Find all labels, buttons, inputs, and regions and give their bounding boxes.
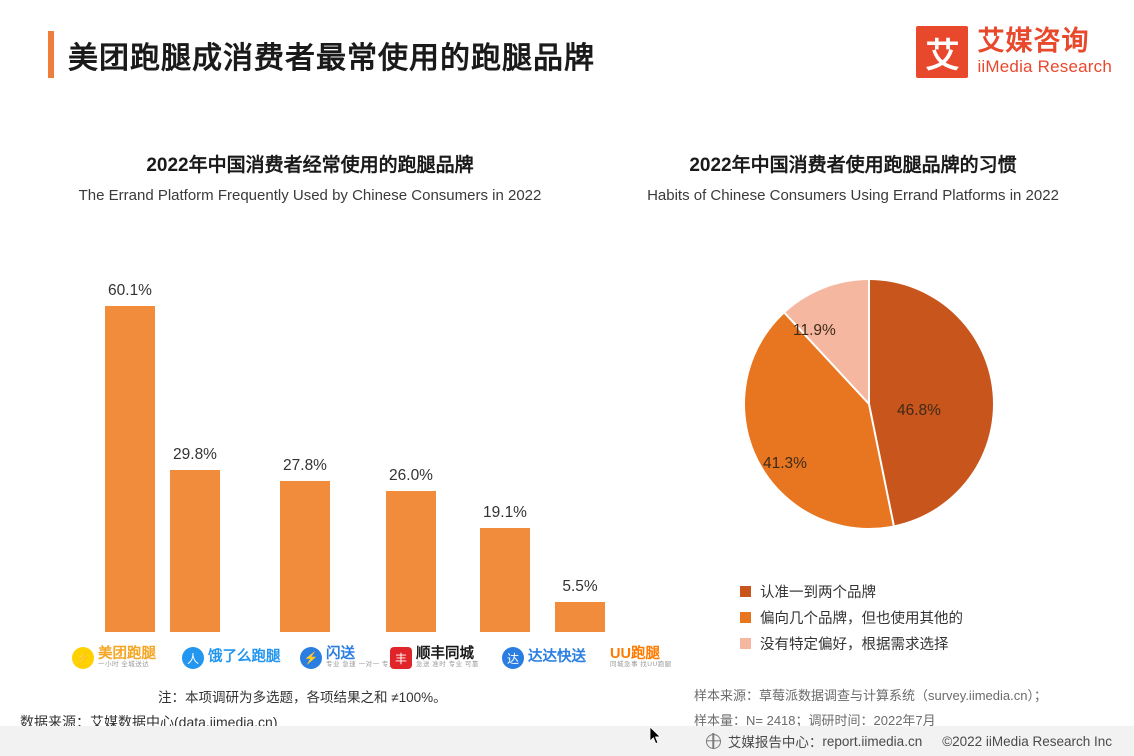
logo-name-en: iiMedia Research	[977, 56, 1112, 77]
page-footer: 艾媒报告中心： report.iimedia.cn ©2022 iiMedia …	[0, 726, 1134, 756]
brand-tagline: 同城急事 找UU跑腿	[610, 662, 672, 669]
bar-column: 19.1%	[480, 280, 530, 632]
sample-source: 样本来源：草莓派数据调查与计算系统（survey.iimedia.cn）；	[694, 684, 1047, 709]
pie-legend: 认准一到两个品牌偏向几个品牌，但也使用其他的没有特定偏好，根据需求选择	[740, 578, 963, 656]
title-accent-bar	[48, 31, 54, 78]
brand-name: 顺丰同城	[416, 647, 479, 662]
bar-value-label: 29.8%	[173, 446, 217, 464]
footer-link[interactable]: report.iimedia.cn	[822, 734, 922, 749]
page-title: 美团跑腿成消费者最常使用的跑腿品牌	[68, 33, 595, 77]
brand-logo-item: ⚡闪送专业 急速 一对一 专送	[300, 640, 378, 676]
left-chart-panel: 2022年中国消费者经常使用的跑腿品牌 The Errand Platform …	[20, 150, 600, 204]
right-chart-subtitle: Habits of Chinese Consumers Using Errand…	[588, 187, 1118, 204]
brand-logo-item: UU跑腿同城急事 找UU跑腿	[606, 640, 702, 676]
brand-text: 饿了么跑腿	[208, 650, 281, 665]
bar-category-logos: ⚡美团跑腿一小时 全城送达人饿了么跑腿⚡闪送专业 急速 一对一 专送丰顺丰同城急…	[72, 640, 632, 678]
brand-name: 美团跑腿	[98, 647, 156, 662]
brand-icon: ⚡	[300, 647, 322, 669]
legend-swatch	[740, 638, 751, 649]
logo-mark: 艾	[916, 26, 968, 78]
left-chart-subtitle: The Errand Platform Frequently Used by C…	[20, 187, 600, 204]
legend-label: 偏向几个品牌，但也使用其他的	[760, 607, 963, 628]
bar-value-label: 27.8%	[283, 457, 327, 475]
bar-value-label: 26.0%	[389, 467, 433, 485]
logo-name-cn: 艾媒咨询	[977, 27, 1112, 55]
bar-rect	[555, 602, 605, 632]
bar-column: 29.8%	[170, 280, 220, 632]
globe-icon	[706, 734, 721, 749]
legend-item: 偏向几个品牌，但也使用其他的	[740, 604, 963, 630]
brand-logo-item: 人饿了么跑腿	[182, 640, 286, 676]
brand-tagline: 专业 急速 一对一 专送	[326, 662, 396, 669]
brand-tagline: 一小时 全城送达	[98, 662, 156, 669]
brand-icon: 丰	[390, 647, 412, 669]
bar-chart-note: 注：本项调研为多选题，各项结果之和 ≠100%。	[158, 686, 447, 706]
legend-item: 认准一到两个品牌	[740, 578, 963, 604]
brand-name: 闪送	[326, 647, 396, 662]
pie-circle	[745, 280, 993, 528]
bar-rect	[480, 528, 530, 632]
legend-label: 没有特定偏好，根据需求选择	[760, 633, 949, 654]
brand-text: 闪送专业 急速 一对一 专送	[326, 647, 396, 669]
pie-label-0: 46.8%	[897, 402, 941, 420]
bar-column: 27.8%	[280, 280, 330, 632]
legend-swatch	[740, 612, 751, 623]
legend-label: 认准一到两个品牌	[760, 581, 876, 602]
brand-icon: 达	[502, 647, 524, 669]
bar-column: 5.5%	[555, 280, 605, 632]
left-chart-title: 2022年中国消费者经常使用的跑腿品牌	[20, 150, 600, 177]
brand-icon: ⚡	[72, 647, 94, 669]
pie-slice-divider	[868, 404, 895, 526]
pie-label-1: 41.3%	[763, 455, 807, 473]
bar-value-label: 60.1%	[108, 282, 152, 300]
brand-logo-item: 达达达快送	[502, 640, 602, 676]
brand-name: UU跑腿	[610, 647, 672, 662]
bar-column: 26.0%	[386, 280, 436, 632]
right-chart-panel: 2022年中国消费者使用跑腿品牌的习惯 Habits of Chinese Co…	[588, 150, 1118, 204]
bar-column: 60.1%	[105, 280, 155, 632]
legend-swatch	[740, 586, 751, 597]
brand-logo: 艾 艾媒咨询 iiMedia Research	[916, 26, 1112, 78]
brand-text: 顺丰同城急送 准时 专业 可靠	[416, 647, 479, 669]
brand-tagline: 急送 准时 专业 可靠	[416, 662, 479, 669]
pie-label-2: 11.9%	[793, 322, 836, 340]
brand-logo-item: ⚡美团跑腿一小时 全城送达	[72, 640, 168, 676]
brand-text: UU跑腿同城急事 找UU跑腿	[610, 647, 672, 669]
footer-copyright: ©2022 iiMedia Research Inc	[942, 734, 1112, 749]
brand-name: 饿了么跑腿	[208, 650, 281, 665]
pie-slice-divider	[868, 280, 870, 404]
brand-text: 美团跑腿一小时 全城送达	[98, 647, 156, 669]
page-header: 美团跑腿成消费者最常使用的跑腿品牌 艾 艾媒咨询 iiMedia Researc…	[0, 0, 1134, 105]
bar-value-label: 19.1%	[483, 504, 527, 522]
brand-icon: 人	[182, 647, 204, 669]
logo-text: 艾媒咨询 iiMedia Research	[977, 27, 1112, 77]
brand-text: 达达快送	[528, 650, 586, 665]
legend-item: 没有特定偏好，根据需求选择	[740, 630, 963, 656]
pie-chart: 46.8% 41.3% 11.9%	[745, 280, 995, 535]
bar-rect	[280, 481, 330, 632]
bar-rect	[170, 470, 220, 632]
mouse-cursor	[650, 727, 662, 745]
bar-chart: 60.1%29.8%27.8%26.0%19.1%5.5%	[90, 280, 620, 632]
bar-value-label: 5.5%	[562, 578, 597, 596]
brand-name: 达达快送	[528, 650, 586, 665]
bar-rect	[105, 306, 155, 632]
brand-logo-item: 丰顺丰同城急送 准时 专业 可靠	[390, 640, 490, 676]
footer-content: 艾媒报告中心： report.iimedia.cn ©2022 iiMedia …	[706, 731, 1134, 751]
bar-rect	[386, 491, 436, 632]
right-chart-title: 2022年中国消费者使用跑腿品牌的习惯	[588, 150, 1118, 177]
footer-label: 艾媒报告中心：	[728, 731, 823, 751]
